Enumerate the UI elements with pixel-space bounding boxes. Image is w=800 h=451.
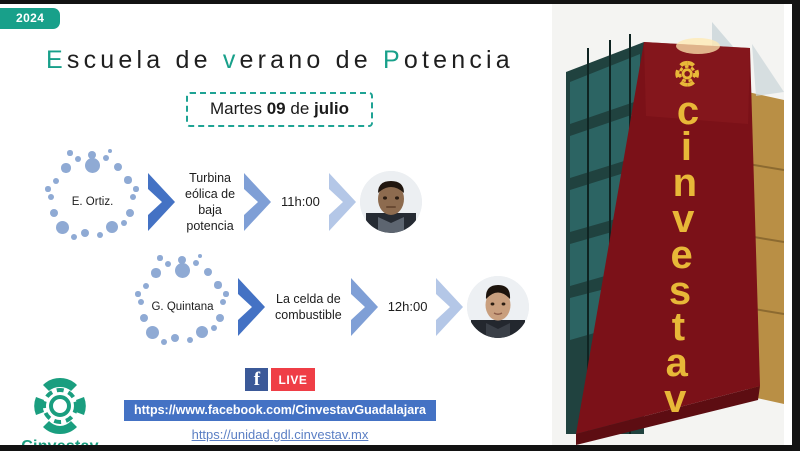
session-topic: La celda decombustible	[269, 291, 348, 323]
title-accent-letter: E	[46, 46, 67, 74]
speaker-name: G. Quintana	[130, 254, 235, 359]
facebook-url-text[interactable]: https://www.facebook.com/CinvestavGuadal…	[124, 400, 436, 421]
session-time: 11h:00	[275, 194, 326, 209]
live-badge: LIVE	[271, 368, 314, 391]
session-row: G. Quintana La celda decombustible 12h:0…	[130, 254, 529, 359]
speaker-name: E. Ortiz.	[40, 149, 145, 254]
chevron-mid-icon	[348, 276, 382, 338]
session-topic-line: combustible	[275, 308, 342, 322]
cinvestav-logo: Cinvestav Guadalajara	[8, 376, 112, 445]
date-connector: de	[290, 99, 309, 118]
presentation-slide: 2024 Escuela de verano de Potencia Marte…	[0, 0, 800, 451]
letterbox-bottom	[0, 445, 800, 451]
letterbox-top	[0, 0, 800, 4]
title-segment: scuela de	[67, 46, 223, 74]
date-month: julio	[314, 99, 349, 118]
session-row: E. Ortiz. Turbinaeólica debajapotencia 1…	[40, 149, 422, 254]
session-topic-line: potencia	[186, 219, 233, 233]
facebook-icon[interactable]: f	[245, 368, 268, 391]
date-badge: Martes 09 de julio	[186, 92, 373, 127]
session-topic-line: La celda de	[276, 292, 341, 306]
sign-letter: v	[664, 377, 687, 421]
slide-canvas: 2024 Escuela de verano de Potencia Marte…	[0, 4, 792, 445]
title-accent-letter: P	[383, 46, 404, 74]
chevron-dark-icon	[235, 276, 269, 338]
title-accent-letter: v	[223, 46, 240, 74]
session-topic-line: eólica de	[185, 187, 235, 201]
date-day: 09	[267, 99, 286, 118]
speaker-dot-badge: G. Quintana	[130, 254, 235, 359]
title-segment: erano de	[240, 46, 383, 74]
cinvestav-emblem-icon	[8, 376, 112, 438]
chevron-dark-icon	[145, 171, 179, 233]
page-title: Escuela de verano de Potencia	[46, 46, 514, 75]
chevron-light-icon	[326, 171, 360, 233]
speaker-photo	[467, 276, 529, 338]
speaker-photo	[360, 171, 422, 233]
session-topic: Turbinaeólica debajapotencia	[179, 170, 241, 234]
session-time: 12h:00	[382, 299, 434, 314]
cinvestav-building-photo: cinvestav	[552, 4, 784, 445]
chevron-mid-icon	[241, 171, 275, 233]
session-topic-line: baja	[198, 203, 222, 217]
year-badge: 2024	[0, 8, 60, 29]
chevron-light-icon	[433, 276, 467, 338]
date-weekday: Martes	[210, 99, 262, 118]
title-segment: otencia	[404, 46, 514, 74]
session-topic-line: Turbina	[189, 171, 231, 185]
letterbox-right	[792, 0, 800, 451]
speaker-dot-badge: E. Ortiz.	[40, 149, 145, 254]
